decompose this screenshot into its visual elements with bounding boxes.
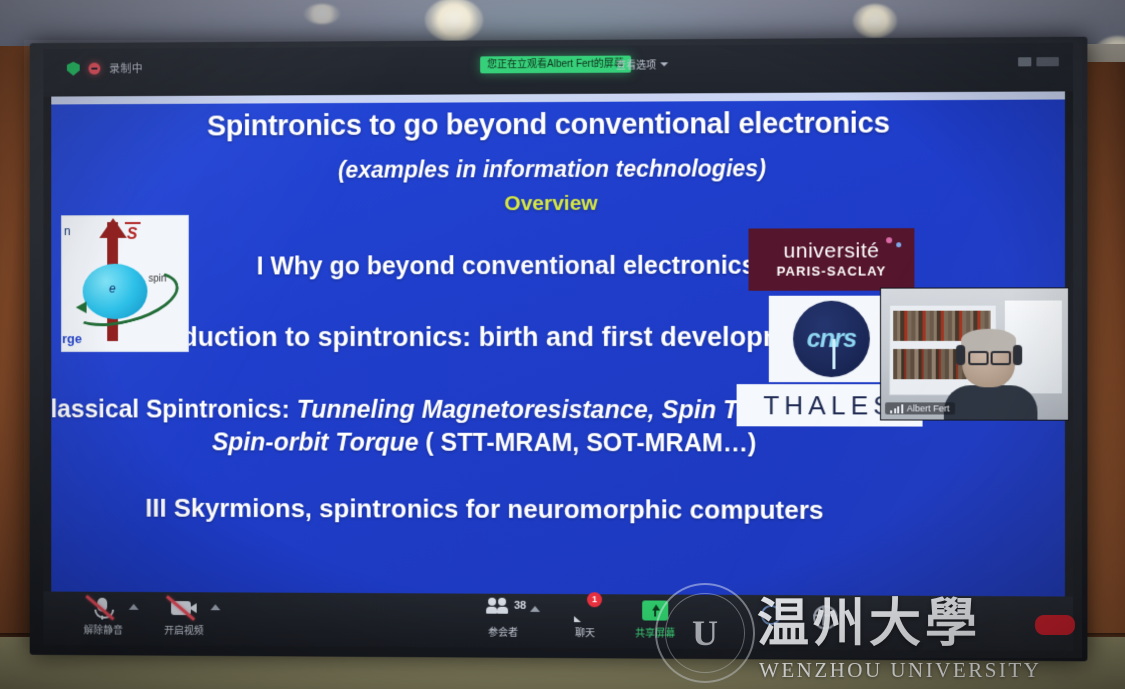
vector-bar — [125, 222, 141, 224]
record-dot-icon[interactable] — [89, 63, 101, 75]
item3-tail: ( STT-MRAM, SOT-MRAM…) — [419, 428, 757, 457]
share-screen-label: 共享屏幕 — [635, 624, 675, 639]
glasses-lens-right — [991, 351, 1011, 365]
view-options-button[interactable]: 查看选项 — [616, 55, 668, 72]
interpretation-button[interactable] — [787, 603, 862, 628]
video-person-body — [944, 385, 1038, 420]
exit-fullscreen-icon[interactable] — [1036, 57, 1058, 66]
headphone-left-icon — [956, 345, 965, 365]
spin-vector-label: S — [127, 226, 137, 244]
cnrs-logo: cnrs — [769, 296, 894, 383]
ceiling-light — [304, 4, 340, 24]
ceiling-light — [853, 4, 897, 38]
chat-label: 聊天 — [575, 624, 595, 639]
conference-room-photo: 录制中 您正在立观看Albert Fert的屏幕 查看选项 Spintronic… — [0, 0, 1125, 689]
view-options-label: 查看选项 — [616, 56, 656, 71]
chat-unread-badge: 1 — [587, 592, 602, 607]
participants-count: 38 — [514, 600, 526, 612]
start-video-label: 开启视频 — [164, 622, 203, 637]
camera-off-icon — [169, 596, 199, 620]
spin-diagram-figure: n S e spin rge — [61, 215, 189, 352]
start-video-button[interactable]: 开启视频 — [147, 596, 220, 637]
slide-outline-item-4: III Skyrmions, spintronics for neuromorp… — [57, 493, 914, 527]
cnrs-wordmark: cnrs — [807, 324, 856, 353]
participants-label: 参会者 — [488, 624, 518, 639]
video-options-chevron-up-icon[interactable] — [210, 604, 220, 610]
figure-clip-bottom-text: rge — [62, 331, 82, 346]
display-bezel: 录制中 您正在立观看Albert Fert的屏幕 查看选项 Spintronic… — [30, 37, 1088, 662]
signal-bars-icon — [890, 404, 903, 413]
chevron-down-icon — [660, 62, 668, 66]
slide-subtitle: (examples in information technologies) — [159, 154, 949, 184]
chat-bubble-icon: 1 — [570, 598, 600, 622]
audio-options-chevron-up-icon[interactable] — [129, 604, 139, 610]
universite-line2: PARIS-SACLAY — [777, 263, 887, 278]
slide-overview-label: Overview — [159, 191, 949, 217]
cnrs-tail-stroke — [832, 339, 835, 369]
glasses-lens-left — [968, 351, 988, 365]
unmute-label: 解除静音 — [84, 621, 123, 636]
spin-orbit-arrowhead — [76, 301, 87, 313]
spin-orbit-arc — [64, 261, 185, 337]
chat-button[interactable]: 1 聊天 — [548, 598, 622, 639]
people-icon: 38 — [488, 598, 518, 622]
thales-wordmark: THALES — [763, 390, 896, 421]
zoom-top-bar: 录制中 您正在立观看Albert Fert的屏幕 查看选项 — [43, 43, 1073, 97]
logo-dot-icon — [896, 242, 901, 247]
participant-video-thumbnail[interactable]: Albert Fert — [880, 287, 1069, 420]
recording-label: 录制中 — [109, 60, 143, 76]
minimize-icon[interactable] — [1018, 57, 1031, 66]
share-screen-icon — [640, 598, 670, 622]
slide-title: Spintronics to go beyond conventional el… — [110, 108, 989, 143]
item3-lead: lassical Spintronics: — [51, 396, 296, 424]
unmute-button[interactable]: 解除静音 — [67, 596, 140, 637]
viewing-screen-banner: 您正在立观看Albert Fert的屏幕 — [480, 56, 631, 74]
universite-line1: université — [784, 240, 880, 261]
figure-clip-top-text: n — [64, 224, 71, 238]
ceiling-light — [425, 0, 483, 42]
slide-outline-item-1: I Why go beyond conventional electronics… — [199, 251, 838, 281]
zoom-meeting-window: 录制中 您正在立观看Albert Fert的屏幕 查看选项 Spintronic… — [43, 43, 1073, 651]
microphone-muted-icon — [89, 596, 118, 620]
spin-vector-arrow-head — [99, 218, 126, 238]
participants-button[interactable]: 38 参会者 — [466, 598, 540, 639]
participant-name-label: Albert Fert — [907, 403, 950, 413]
cnrs-circle: cnrs — [793, 301, 870, 377]
headphone-right-icon — [1013, 345, 1022, 365]
universite-paris-saclay-logo: université PARIS-SACLAY — [749, 228, 915, 291]
recording-status: 录制中 — [67, 60, 143, 76]
window-controls[interactable] — [1018, 57, 1059, 66]
participants-chevron-up-icon[interactable] — [530, 606, 540, 612]
logo-dot-icon — [886, 237, 892, 243]
shield-icon — [67, 62, 80, 76]
share-screen-button[interactable]: 共享屏幕 — [618, 598, 692, 639]
spin-label: spin — [148, 274, 166, 285]
video-person-hair — [961, 329, 1016, 351]
zoom-bottom-toolbar: 解除静音 开启视频 — [43, 592, 1073, 652]
participant-name-tag: Albert Fert — [885, 402, 954, 414]
globe-icon — [809, 603, 839, 627]
